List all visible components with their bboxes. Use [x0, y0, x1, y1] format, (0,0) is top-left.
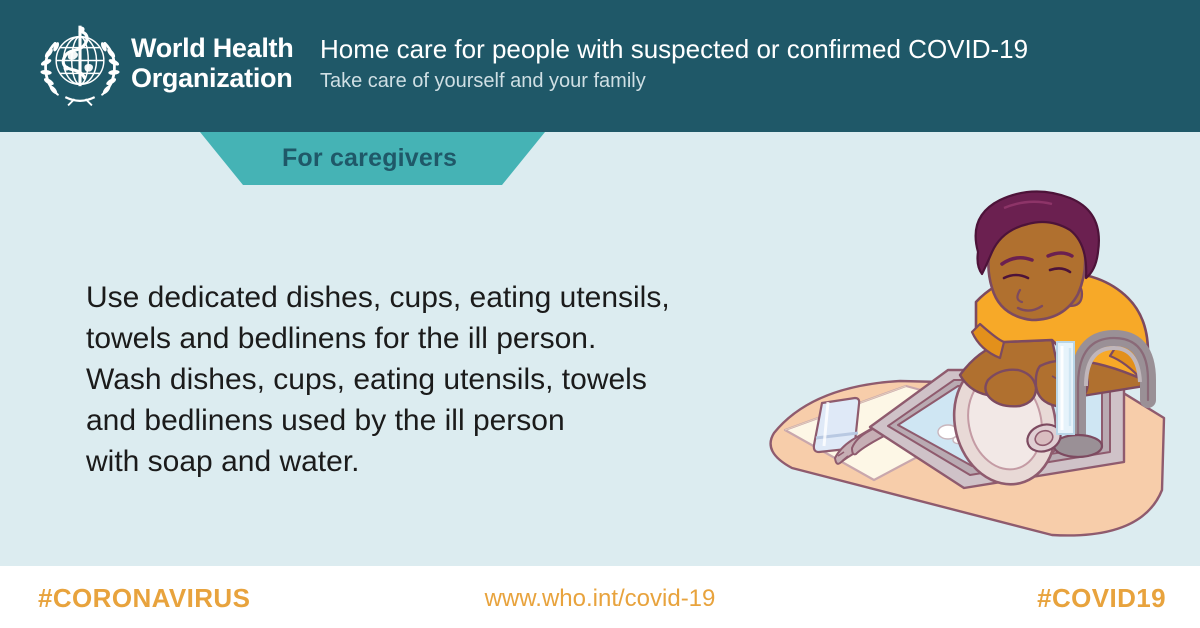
footer-bar: #CORONAVIRUS www.who.int/covid-19 #COVID… — [0, 566, 1200, 628]
body-line-1: Use dedicated dishes, cups, eating utens… — [86, 277, 746, 318]
illustration-person-washing-dishes — [752, 190, 1200, 540]
hashtag-covid19[interactable]: #COVID19 — [1037, 583, 1166, 614]
header-bar: World Health Organization Home care for … — [0, 0, 1200, 132]
caregivers-banner: For caregivers — [200, 132, 545, 185]
who-wordmark: World Health Organization — [131, 33, 293, 93]
banner-label: For caregivers — [200, 132, 545, 185]
body-line-5: with soap and water. — [86, 441, 746, 482]
page-subtitle: Take care of yourself and your family — [320, 68, 646, 94]
body-line-3: Wash dishes, cups, eating utensils, towe… — [86, 359, 746, 400]
who-wordmark-line1: World Health — [131, 33, 293, 63]
body-line-4: and bedlinens used by the ill person — [86, 400, 746, 441]
who-wordmark-line2: Organization — [131, 63, 293, 93]
who-covid19-home-care-infographic: World Health Organization Home care for … — [0, 0, 1200, 628]
who-emblem-icon — [34, 22, 126, 110]
who-covid-url[interactable]: www.who.int/covid-19 — [0, 585, 1200, 613]
page-title: Home care for people with suspected or c… — [320, 33, 1028, 65]
running-water — [1057, 342, 1074, 434]
body-text: Use dedicated dishes, cups, eating utens… — [86, 277, 746, 482]
body-line-2: towels and bedlinens for the ill person. — [86, 318, 746, 359]
